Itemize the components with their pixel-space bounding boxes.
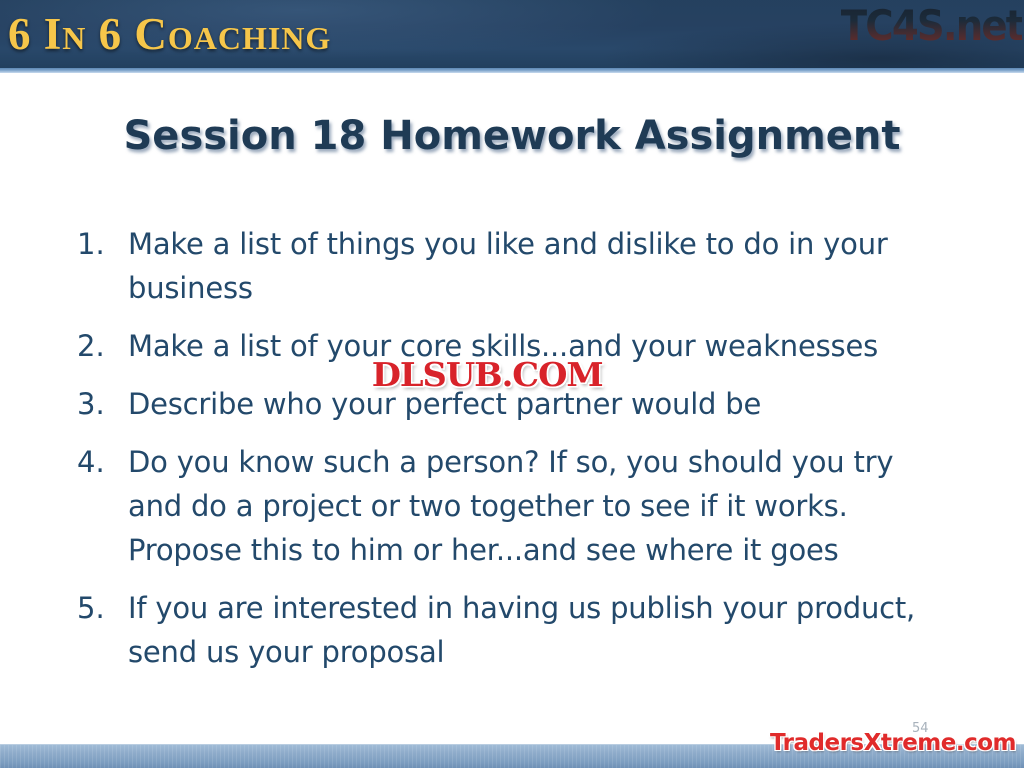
list-item-text: Make a list of things you like and disli… — [128, 222, 954, 310]
header-accent-line — [0, 68, 1024, 73]
watermark-tradersxtreme: TradersXtreme.com 54 — [770, 730, 1016, 756]
list-item-number: 2. — [74, 324, 128, 368]
list-item-number: 4. — [74, 440, 128, 484]
list-item-text: If you are interested in having us publi… — [128, 586, 954, 674]
tc4s-net-logo: TC4S.net — [840, 0, 1022, 54]
slide-canvas: 6 In 6 Coaching TC4S.net Session 18 Home… — [0, 0, 1024, 768]
list-item: 1. Make a list of things you like and di… — [74, 222, 954, 310]
page-title: Session 18 Homework Assignment — [0, 113, 1024, 159]
brand-logo-6in6coaching: 6 In 6 Coaching — [8, 7, 331, 61]
list-item-text: Do you know such a person? If so, you sh… — [128, 440, 954, 572]
list-item: 4. Do you know such a person? If so, you… — [74, 440, 954, 572]
watermark-tradersxtreme-text: TradersXtreme.com — [770, 730, 1016, 756]
slide-page-number: 54 — [912, 721, 929, 736]
list-item-number: 5. — [74, 586, 128, 630]
list-item-number: 1. — [74, 222, 128, 266]
list-item-number: 3. — [74, 382, 128, 426]
watermark-dlsub: DLSUB.COM — [372, 357, 603, 393]
list-item: 5. If you are interested in having us pu… — [74, 586, 954, 674]
homework-list: 1. Make a list of things you like and di… — [74, 222, 954, 688]
